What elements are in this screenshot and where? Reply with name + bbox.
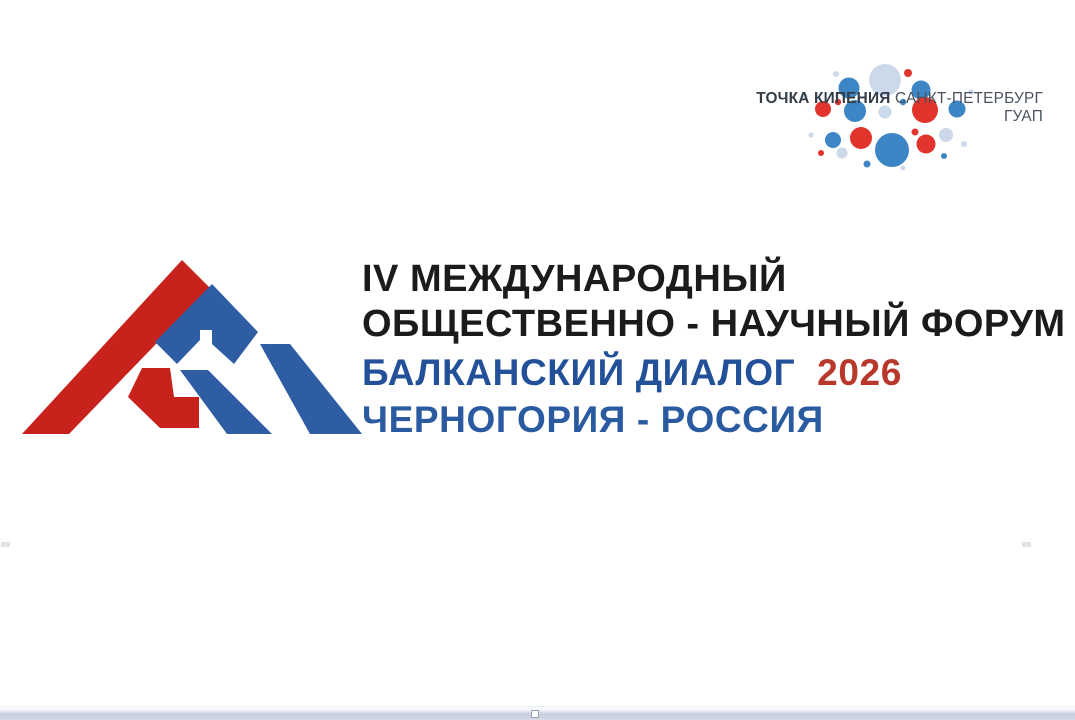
horizontal-scrollbar-thumb[interactable] — [531, 710, 539, 718]
forum-title-line-1: IV МЕЖДУНАРОДНЫЙ — [362, 258, 1052, 301]
partner-logo-city: САНКТ-ПЕТЕРБУРГ — [895, 90, 1043, 107]
forum-subtitle: БАЛКАНСКИЙ ДИАЛОГ — [362, 352, 795, 394]
forum-subtitle-row: БАЛКАНСКИЙ ДИАЛОГ 2026 — [362, 352, 1052, 394]
slide-edge-mark-right — [1022, 542, 1031, 547]
forum-year: 2026 — [817, 352, 902, 394]
forum-countries: ЧЕРНОГОРИЯ - РОССИЯ — [362, 399, 1052, 441]
slide-canvas: ТОЧКА КИПЕНИЯ САНКТ-ПЕТЕРБУРГ ГУАП IV МЕ… — [0, 0, 1075, 706]
partner-logo-line1: ТОЧКА КИПЕНИЯ САНКТ-ПЕТЕРБУРГ — [733, 90, 1043, 107]
slide-edge-mark-left — [1, 542, 10, 547]
horizontal-scrollbar[interactable] — [0, 706, 1075, 720]
partner-logo-brand: ТОЧКА КИПЕНИЯ — [756, 90, 890, 107]
partner-logo-university: ГУАП — [733, 108, 1043, 125]
partner-logo: ТОЧКА КИПЕНИЯ САНКТ-ПЕТЕРБУРГ ГУАП — [733, 52, 1043, 174]
forum-emblem-icon — [22, 252, 362, 452]
forum-title-line-2: ОБЩЕСТВЕННО - НАУЧНЫЙ ФОРУМ — [362, 303, 1052, 346]
forum-title-block: IV МЕЖДУНАРОДНЫЙ ОБЩЕСТВЕННО - НАУЧНЫЙ Ф… — [362, 258, 1052, 441]
partner-logo-text: ТОЧКА КИПЕНИЯ САНКТ-ПЕТЕРБУРГ ГУАП — [733, 90, 1043, 126]
